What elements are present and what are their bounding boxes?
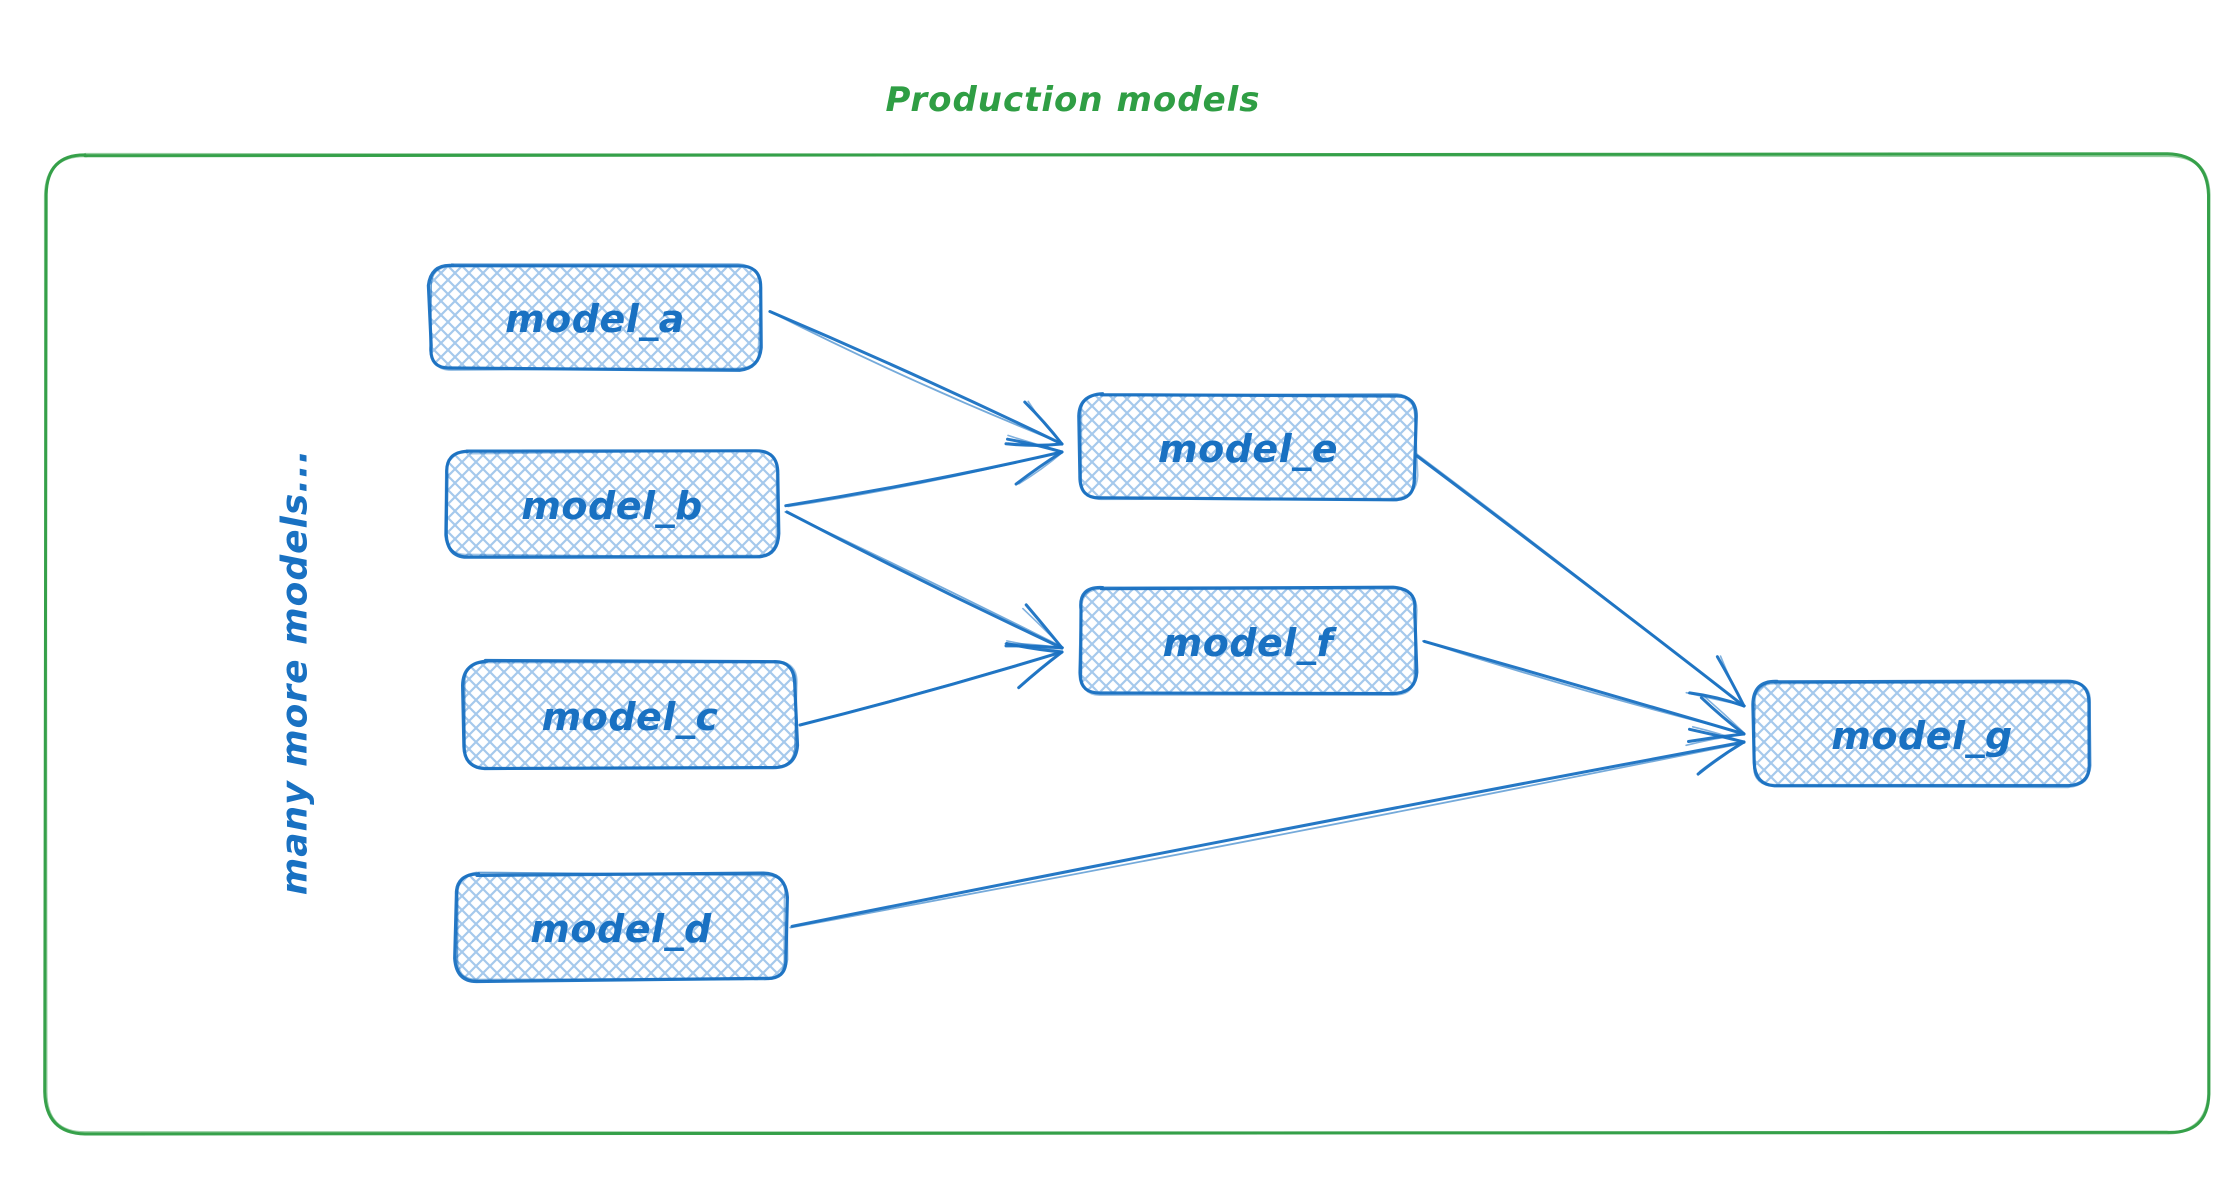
node-model_b[interactable] bbox=[445, 450, 779, 557]
node-model_a[interactable] bbox=[428, 264, 761, 371]
node-model_c[interactable] bbox=[463, 661, 798, 770]
diagram-canvas: Production models many more models... mo… bbox=[0, 0, 2240, 1188]
node-fill-model_b bbox=[446, 451, 778, 556]
edge-model_d-to-model_g[interactable] bbox=[790, 727, 1744, 928]
edge-line bbox=[792, 742, 1744, 926]
side-note-label: many more models... bbox=[275, 449, 316, 896]
node-fill-model_d bbox=[455, 874, 785, 980]
edge-model_b-to-model_f[interactable] bbox=[785, 512, 1063, 648]
edge-line bbox=[802, 651, 1061, 724]
node-fill-model_a bbox=[430, 265, 761, 370]
edge-line bbox=[770, 312, 1062, 445]
edge-model_a-to-model_e[interactable] bbox=[770, 312, 1062, 446]
frame-title: Production models bbox=[885, 80, 1260, 120]
edge-line bbox=[785, 512, 1063, 648]
nodes-group bbox=[428, 264, 2090, 982]
edge-line bbox=[790, 743, 1744, 928]
edge-model_c-to-model_f[interactable] bbox=[800, 641, 1062, 725]
node-model_e[interactable] bbox=[1079, 394, 1418, 501]
node-fill-model_f bbox=[1080, 588, 1417, 694]
diagram-svg bbox=[0, 0, 2240, 1188]
node-model_g[interactable] bbox=[1753, 681, 2091, 787]
edge-line bbox=[1023, 609, 1063, 648]
node-model_f[interactable] bbox=[1079, 587, 1417, 695]
edge-model_e-to-model_g[interactable] bbox=[1416, 454, 1745, 707]
node-fill-model_g bbox=[1754, 682, 2090, 787]
node-model_d[interactable] bbox=[455, 872, 788, 981]
node-fill-model_c bbox=[463, 662, 796, 768]
node-fill-model_e bbox=[1080, 394, 1416, 498]
